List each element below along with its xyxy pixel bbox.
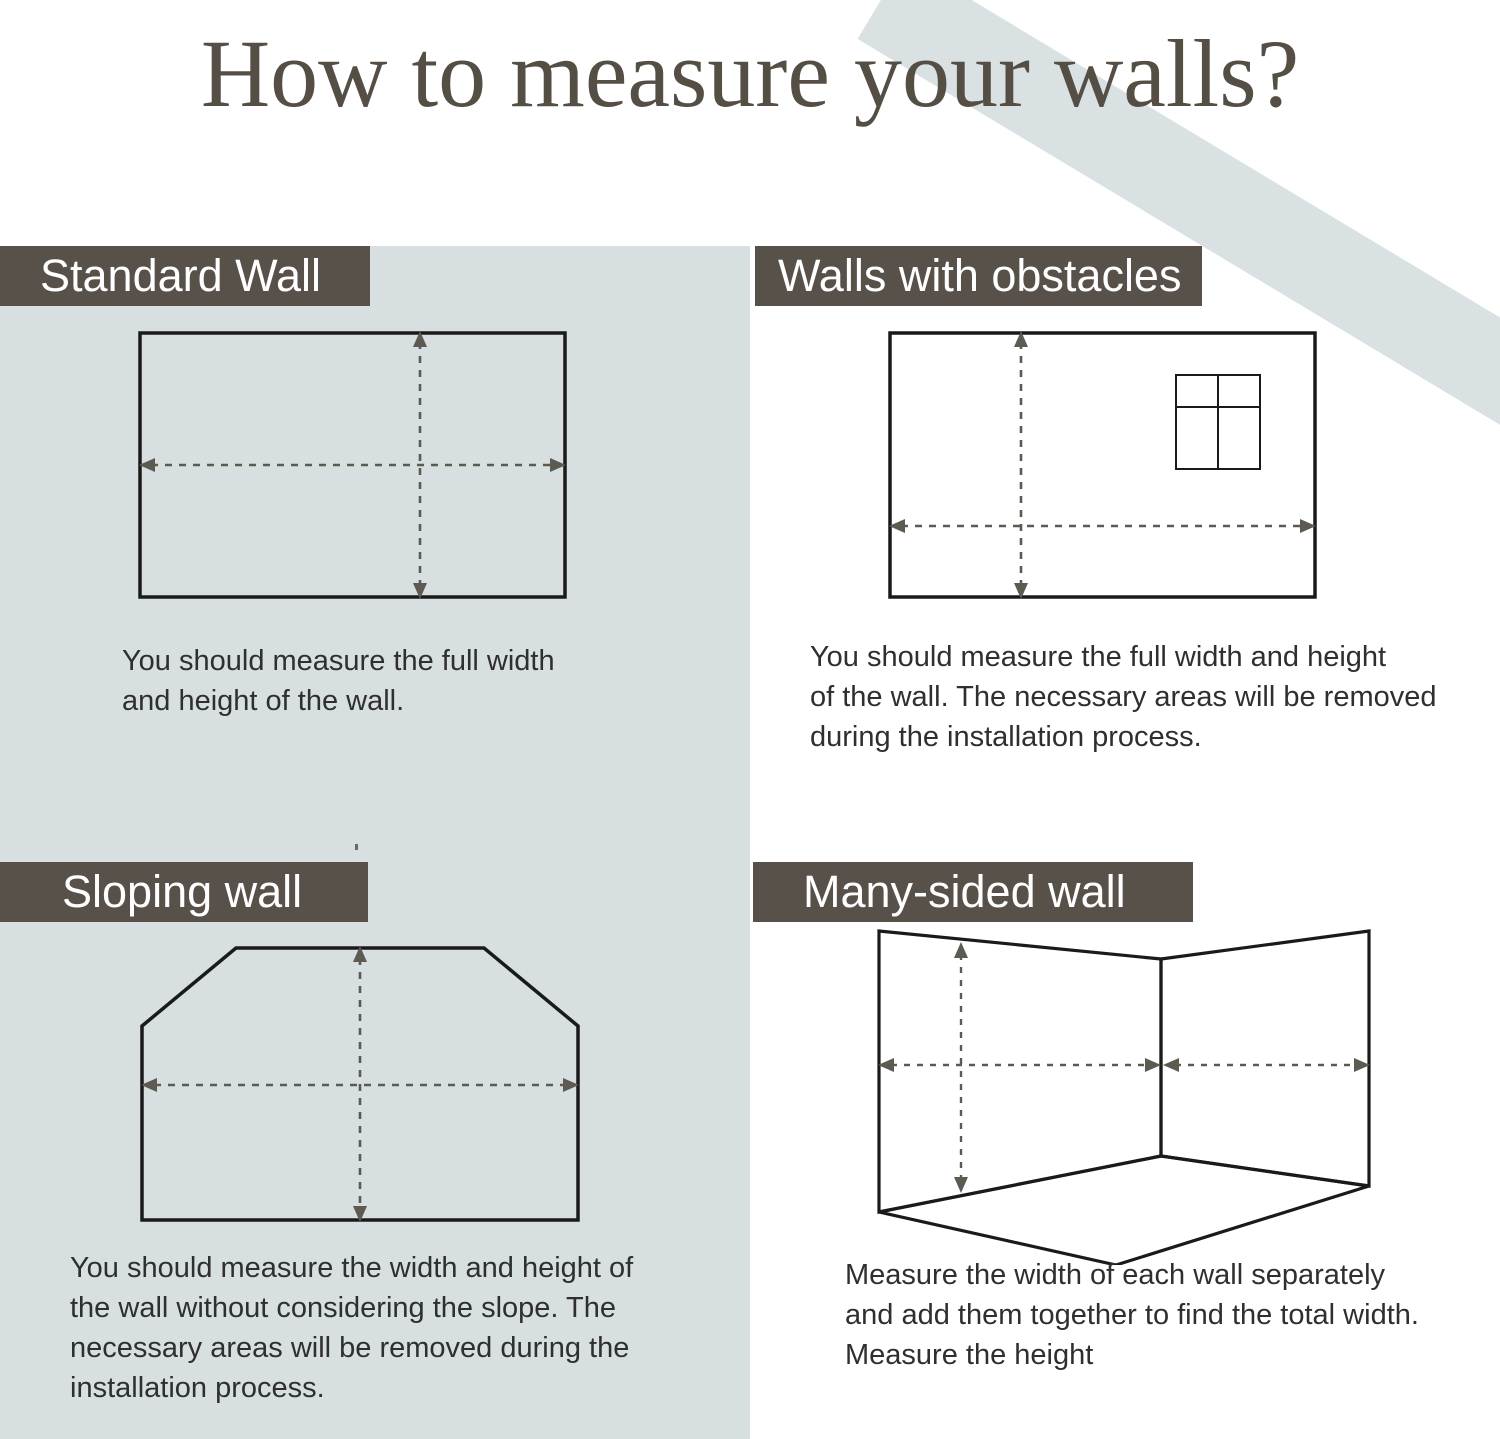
section-header-standard-wall-label: Standard Wall [40, 246, 321, 306]
caption-sloping-wall: You should measure the width and height … [70, 1248, 690, 1408]
caption-many-sided-wall: Measure the width of each wall separatel… [845, 1255, 1485, 1375]
corner-walls-outline [879, 931, 1369, 1265]
section-header-sloping-wall: Sloping wall [0, 862, 368, 922]
caption-walls-with-obstacles: You should measure the full width and he… [810, 637, 1470, 757]
height-arrow-top [954, 942, 968, 958]
infographic-page: How to measure your walls? Standard Wall… [0, 0, 1500, 1439]
section-header-walls-with-obstacles-label: Walls with obstacles [778, 246, 1181, 306]
section-header-many-sided-wall: Many-sided wall [753, 862, 1193, 922]
width-left-arrow-corner [1145, 1058, 1161, 1072]
sloping-wall-diagram [110, 930, 610, 1240]
page-title: How to measure your walls? [0, 24, 1500, 125]
window-icon [1176, 375, 1260, 469]
walls-with-obstacles-diagram [860, 315, 1360, 625]
many-sided-wall-diagram [865, 915, 1385, 1265]
height-arrow-bottom [954, 1177, 968, 1193]
width-right-arrow-corner [1163, 1058, 1179, 1072]
section-header-sloping-wall-label: Sloping wall [62, 862, 302, 922]
wall-outline-rect [890, 333, 1315, 597]
section-header-walls-with-obstacles: Walls with obstacles [755, 246, 1202, 306]
section-header-standard-wall: Standard Wall [0, 246, 370, 306]
stray-mark [355, 844, 358, 850]
standard-wall-diagram [110, 315, 610, 625]
caption-standard-wall: You should measure the full width and he… [122, 641, 642, 721]
section-header-many-sided-wall-label: Many-sided wall [803, 862, 1126, 922]
